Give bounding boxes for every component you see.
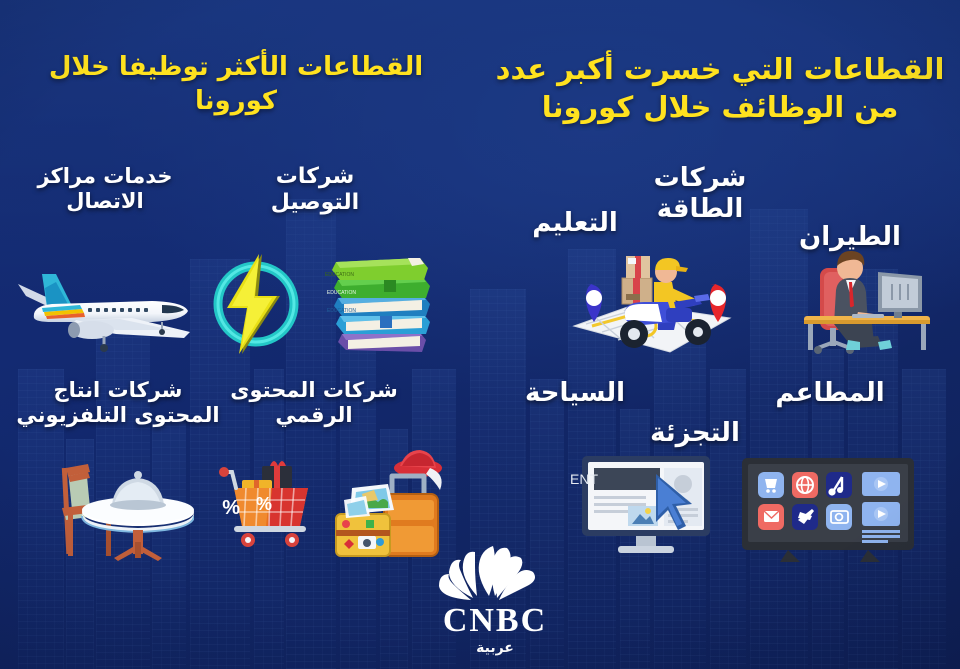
item-label-call-center: خدمات مراكز الاتصال — [10, 164, 200, 214]
shopping-cart-icon: % % — [216, 448, 320, 560]
hirers-section-title: القطاعات الأكثر توظيفا خلال كورونا — [12, 50, 460, 119]
delivery-scooter-icon — [562, 242, 740, 358]
infographic-poster: القطاعات التي خسرت أكبر عدد من الوظائف خ… — [0, 0, 960, 669]
item-label-restaurants: المطاعم — [740, 378, 920, 409]
call-center-agent-icon — [794, 242, 938, 358]
item-label-tv-production: شركات انتاج المحتوى التلفزيوني — [14, 378, 222, 428]
losers-section-title: القطاعات التي خسرت أكبر عدد من الوظائف خ… — [494, 50, 946, 127]
cnbc-arabic-wordmark: عربية — [415, 640, 575, 656]
svg-text:EDUCATION: EDUCATION — [327, 290, 356, 296]
item-label-tourism: السياحة — [490, 378, 660, 409]
monitor-headline-text: CONTENT — [570, 471, 598, 487]
svg-text:EDUCATION: EDUCATION — [325, 272, 354, 278]
svg-text:EDUCATION: EDUCATION — [327, 308, 356, 314]
restaurant-table-icon — [42, 452, 194, 564]
item-label-retail: التجزئة — [620, 418, 770, 449]
cnbc-logo: CNBC عربية — [415, 540, 575, 652]
cnbc-wordmark: CNBC — [415, 602, 575, 640]
svg-text:%: % — [222, 497, 240, 519]
svg-text:%: % — [256, 494, 272, 514]
item-label-education: التعليم — [500, 208, 650, 239]
smart-tv-icon — [736, 452, 920, 566]
airplane-icon — [12, 262, 197, 364]
item-label-digital-content: شركات المحتوى الرقمي — [224, 378, 404, 428]
item-label-delivery: شركات التوصيل — [230, 164, 400, 217]
peacock-icon — [415, 540, 575, 610]
lightning-bolt-icon — [204, 252, 308, 356]
books-stack-icon: EDUCATION EDUCATION EDUCATION — [322, 246, 444, 358]
desktop-monitor-icon: CONTENT — [570, 446, 722, 558]
